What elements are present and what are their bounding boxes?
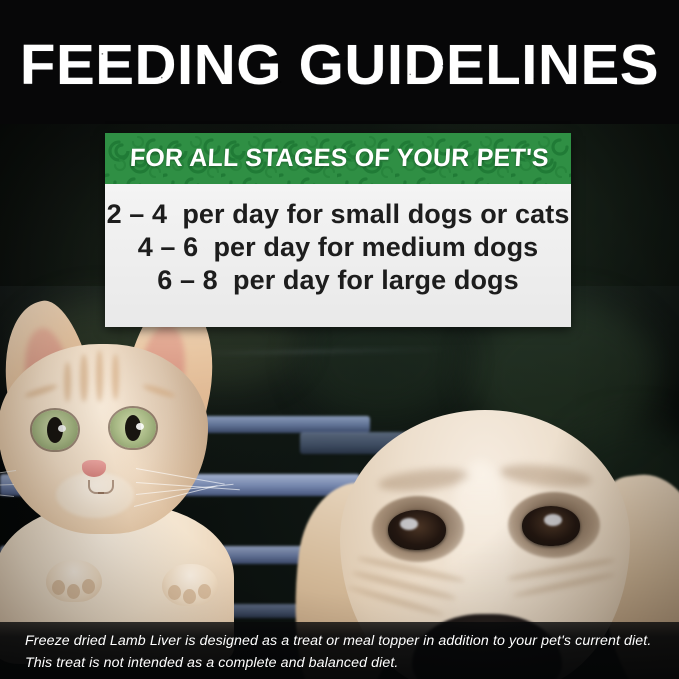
feeding-line-small: 2 – 4 per day for small dogs or cats	[105, 198, 571, 231]
kitten-toe	[82, 579, 95, 594]
kitten-right-pupil	[125, 415, 141, 441]
card-body: 2 – 4 per day for small dogs or cats 4 –…	[105, 184, 571, 327]
labrador-left-eye	[388, 510, 446, 550]
disclaimer-line-2: This treat is not intended as a complete…	[0, 652, 679, 674]
kitten-eye-glint	[136, 423, 144, 430]
kitten-right-paw	[162, 564, 218, 606]
kitten-photo-subject	[0, 292, 284, 632]
kitten-left-pupil	[47, 417, 63, 443]
kitten-left-paw	[46, 560, 102, 602]
kitten-toe	[168, 585, 181, 600]
kitten-forehead-stripe	[80, 354, 88, 402]
kitten-forehead-stripe	[96, 350, 103, 402]
kitten-right-eye	[110, 408, 156, 448]
feeding-line-large: 6 – 8 per day for large dogs	[105, 264, 571, 297]
kitten-muzzle	[56, 472, 134, 518]
kitten-whisker	[0, 486, 14, 497]
kitten-left-eye	[32, 410, 78, 450]
page-title: FEEDING GUIDELINES	[0, 36, 679, 94]
feeding-guidelines-card: FOR ALL STAGES OF YOUR PET'S LIFE 2 – 4 …	[105, 133, 571, 327]
kitten-toe	[67, 584, 80, 599]
kitten-forehead-stripe	[64, 362, 71, 402]
card-header-text: FOR ALL STAGES OF YOUR PET'S LIFE	[105, 133, 571, 184]
kitten-toe	[183, 589, 196, 604]
kitten-toe	[52, 580, 65, 595]
labrador-right-eye	[522, 506, 580, 546]
kitten-whisker	[0, 484, 14, 488]
kitten-forehead-stripe	[112, 354, 119, 400]
card-header-band: FOR ALL STAGES OF YOUR PET'S LIFE	[105, 133, 571, 184]
disclaimer-bar: Freeze dried Lamb Liver is designed as a…	[0, 622, 679, 679]
kitten-toe	[198, 584, 211, 599]
labrador-eye-glint	[400, 518, 418, 530]
disclaimer-line-1: Freeze dried Lamb Liver is designed as a…	[0, 622, 679, 652]
labrador-eye-glint	[544, 514, 562, 526]
feeding-guidelines-poster: FEEDING GUIDELINES	[0, 0, 679, 679]
kitten-eye-glint	[58, 425, 66, 432]
feeding-line-medium: 4 – 6 per day for medium dogs	[105, 231, 571, 264]
